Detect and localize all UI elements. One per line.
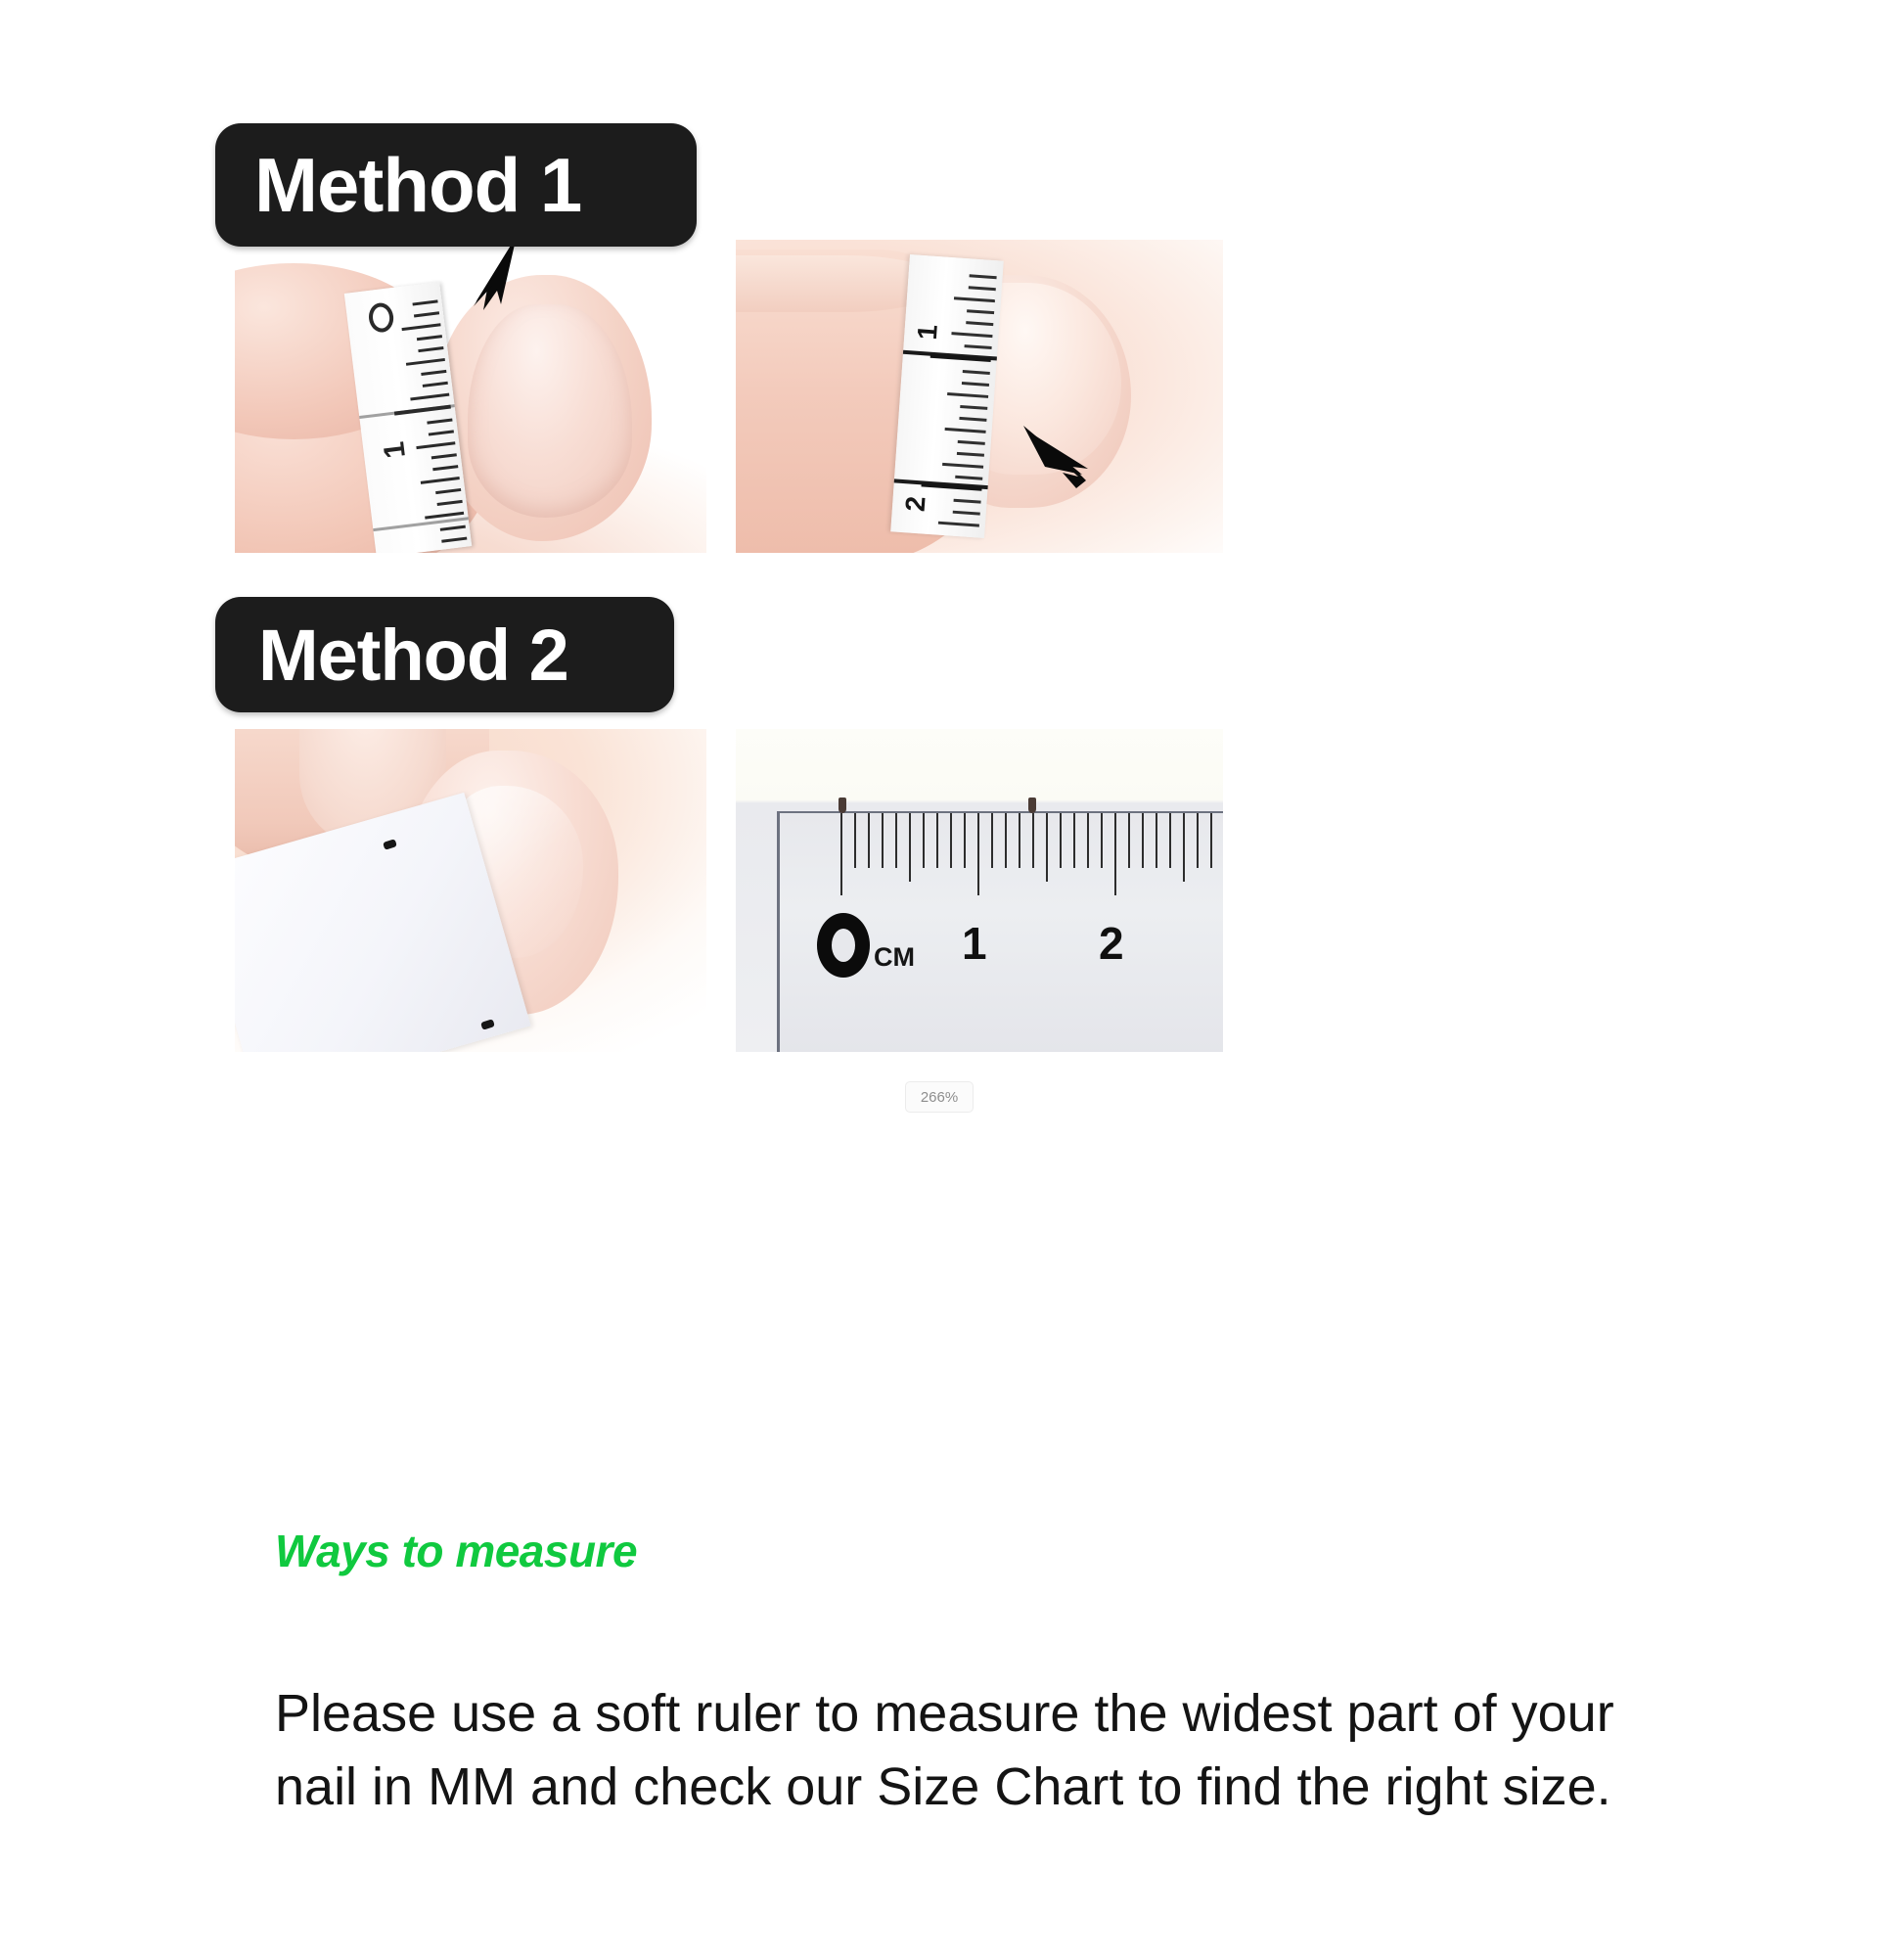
tape-zero-mark [367,301,394,334]
ruler-tick-label-2: 2 [1099,917,1124,970]
tape-number-1: 1 [912,324,944,342]
photo-1-canvas: 1 [235,240,706,553]
pointer-arrow-icon [1023,424,1110,490]
plastic-ruler: CM 1 2 3 [777,811,1223,1052]
ruler-unit-label: CM [874,942,915,973]
pointer-arrow-icon [468,240,528,314]
method-1-label: Method 1 [254,141,581,230]
ruler-tick-label-1: 1 [962,917,987,970]
measure-mark-start [839,798,846,813]
method-1-photo-1: 1 [235,240,706,553]
method-2-photo-1 [235,729,706,1052]
finger-crease [736,255,931,312]
method-2-photo-2: CM 1 2 3 [736,729,1223,1052]
tape-measure-strip: 1 2 [890,254,1004,538]
fingernail-plate [468,304,632,518]
measure-mark-end [1028,798,1036,813]
measure-instructions-paragraph: Please use a soft ruler to measure the w… [275,1677,1635,1823]
method-1-photo-2: 1 2 [736,240,1223,553]
method-2-label: Method 2 [258,614,568,697]
method-1-badge: Method 1 [215,123,697,247]
photo-4-canvas: CM 1 2 3 [736,729,1223,1052]
zoom-level-indicator[interactable]: 266% [905,1081,974,1113]
tape-number-1: 1 [378,439,413,460]
photo-3-canvas [235,729,706,1052]
method-2-badge: Method 2 [215,597,674,712]
ways-to-measure-heading: Ways to measure [275,1525,637,1577]
zoom-level-label: 266% [921,1089,958,1106]
photo-2-canvas: 1 2 [736,240,1223,553]
ruler-zero-hole [832,929,855,962]
tape-number-2: 2 [900,495,932,513]
